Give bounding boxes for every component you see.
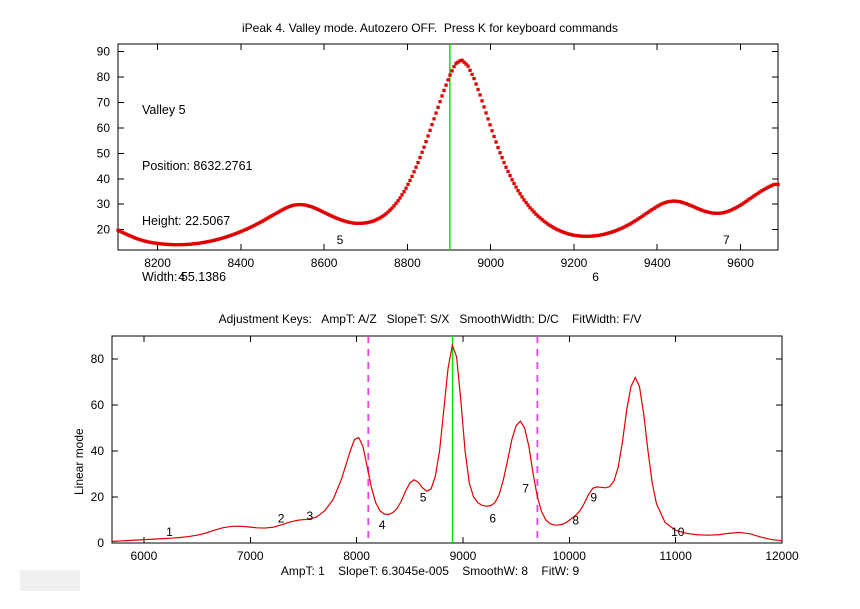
x-tick-label: 9000 — [477, 256, 504, 270]
bottom-left-panel — [20, 570, 80, 591]
y-tick-label: 60 — [91, 398, 105, 412]
valley-number-label: 5 — [337, 233, 344, 247]
valley-number-label: 6 — [592, 270, 599, 284]
y-tick-label: 80 — [97, 70, 111, 84]
upper-data-markers — [116, 59, 779, 247]
x-tick-label: 6000 — [131, 549, 158, 563]
peak-number-label: 8 — [572, 514, 579, 528]
peak-number-label: 4 — [379, 518, 386, 532]
ipeak-figure-window: iPeak 4. Valley mode. Autozero OFF. Pres… — [0, 0, 860, 609]
y-tick-label: 50 — [97, 146, 111, 160]
x-tick-label: 9400 — [644, 256, 671, 270]
x-tick-label: 10000 — [553, 549, 587, 563]
x-tick-label: 11000 — [659, 549, 692, 563]
upper-axes-box — [118, 44, 778, 250]
x-tick-label: 8800 — [394, 256, 421, 270]
peak-number-label: 5 — [420, 491, 427, 505]
x-tick-label: 9600 — [727, 256, 754, 270]
y-tick-label: 60 — [97, 121, 111, 135]
valley-number-label: 4 — [178, 270, 185, 284]
y-tick-label: 40 — [91, 444, 105, 458]
y-tick-label: 20 — [97, 223, 111, 237]
x-tick-label: 9000 — [450, 549, 477, 563]
parameter-status-bar: AmpT: 1 SlopeT: 6.3045e-005 SmoothW: 8 F… — [0, 564, 860, 578]
x-tick-label: 8000 — [343, 549, 370, 563]
y-tick-label: 70 — [97, 95, 111, 109]
x-tick-label: 8600 — [311, 256, 338, 270]
x-tick-label: 9200 — [561, 256, 588, 270]
peak-number-label: 10 — [671, 525, 685, 539]
spectrum-trace — [112, 345, 782, 541]
x-tick-label: 12000 — [765, 549, 799, 563]
x-tick-label: 7000 — [237, 549, 264, 563]
valley-number-label: 7 — [723, 233, 730, 247]
peak-number-label: 6 — [489, 511, 496, 525]
y-tick-label: 80 — [91, 352, 105, 366]
x-tick-label: 8200 — [144, 256, 171, 270]
peak-number-label: 9 — [590, 491, 597, 505]
x-tick-label: 8400 — [227, 256, 254, 270]
lower-chart[interactable]: 6000700080009000100001100012000020406080… — [0, 300, 860, 580]
peak-number-label: 7 — [522, 481, 529, 495]
y-tick-label: 90 — [97, 45, 111, 59]
y-tick-label: 30 — [97, 197, 111, 211]
y-tick-label: 0 — [97, 536, 104, 550]
peak-number-label: 2 — [278, 511, 285, 525]
y-tick-label: 20 — [91, 490, 105, 504]
y-tick-label: 40 — [97, 172, 111, 186]
lower-axes-box — [112, 336, 782, 543]
peak-number-label: 1 — [166, 525, 173, 539]
upper-chart[interactable]: 8200840086008800900092009400960020304050… — [0, 0, 860, 290]
peak-number-label: 3 — [306, 509, 313, 523]
